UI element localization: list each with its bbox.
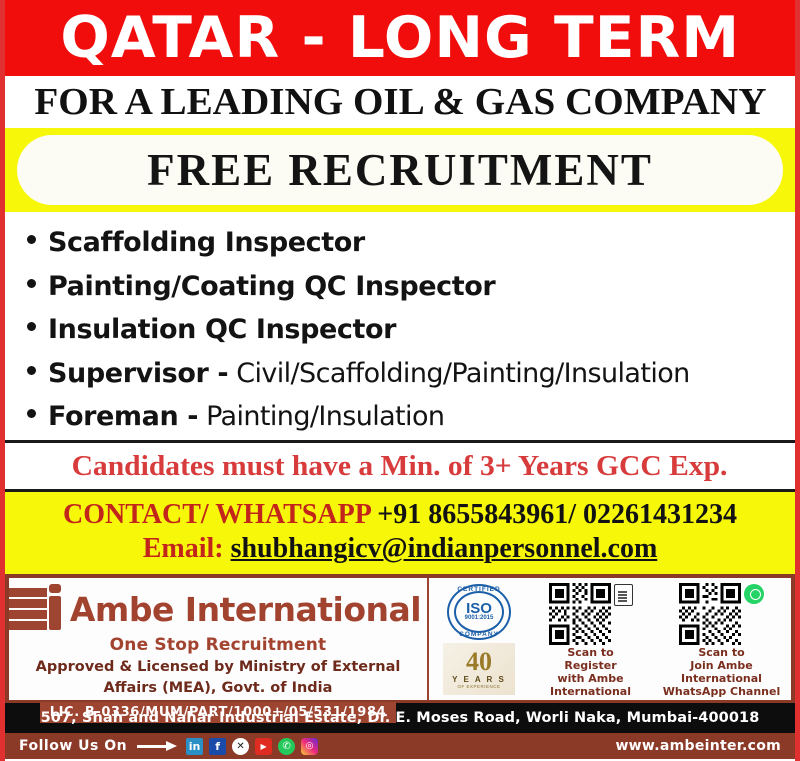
- qr-register-row: [549, 583, 633, 645]
- job-title: Supervisor -: [48, 358, 228, 389]
- linkedin-icon[interactable]: in: [186, 738, 203, 755]
- clipboard-icon: [614, 584, 633, 606]
- whatsapp-icon: [744, 584, 764, 604]
- iso-standard: 9001:2015: [447, 615, 511, 621]
- bullet-icon: [27, 322, 36, 331]
- email-address[interactable]: shubhangicv@indianpersonnel.com: [231, 533, 658, 564]
- job-list: Scaffolding Inspector Painting/Coating Q…: [5, 212, 795, 440]
- contact-line: CONTACT/ WHATSAPP +91 8655843961/ 022614…: [5, 498, 795, 532]
- contact-band: CONTACT/ WHATSAPP +91 8655843961/ 022614…: [5, 492, 795, 574]
- free-recruitment-band: FREE RECRUITMENT: [5, 128, 795, 212]
- page-title: QATAR - LONG TERM: [60, 10, 740, 67]
- youtube-icon[interactable]: ▶: [255, 738, 272, 755]
- company-logo: Ambe International: [3, 584, 427, 634]
- contact-numbers[interactable]: +91 8655843961/ 02261431234: [377, 499, 737, 530]
- qr-register-caption: Scan to Register with Ambe International: [550, 647, 631, 699]
- bullet-icon: [27, 235, 36, 244]
- certifications-and-qr: CERTIFIED ISO 9001:2015 COMPANY 40 Y E A…: [429, 578, 791, 700]
- facebook-icon[interactable]: f: [209, 738, 226, 755]
- qr-whatsapp-block[interactable]: Scan to Join Ambe International WhatsApp…: [656, 579, 787, 699]
- qr-caption-line: International: [550, 686, 631, 699]
- qr-code-register-icon[interactable]: [549, 583, 611, 645]
- experience-requirement-strip: Candidates must have a Min. of 3+ Years …: [5, 440, 795, 492]
- free-recruitment-label: FREE RECRUITMENT: [147, 148, 653, 193]
- bullet-icon: [27, 366, 36, 375]
- job-title: Foreman -: [48, 401, 198, 432]
- ambe-logo-icon: [9, 584, 61, 634]
- company-block: Ambe International One Stop Recruitment …: [9, 578, 429, 700]
- list-item: Foreman - Painting/Insulation: [5, 398, 795, 435]
- qr-caption-line: WhatsApp Channel: [663, 686, 781, 699]
- social-bar: Follow Us On in f ✕ ▶ ✆ ◎ www.ambeinter.…: [5, 733, 795, 759]
- footer-panel: Ambe International One Stop Recruitment …: [5, 574, 795, 703]
- qr-whatsapp-row: [679, 583, 764, 645]
- qr-code-whatsapp-icon[interactable]: [679, 583, 741, 645]
- qr-whatsapp-caption: Scan to Join Ambe International WhatsApp…: [663, 647, 781, 699]
- company-tagline: One Stop Recruitment: [9, 635, 427, 655]
- years-number: 40: [466, 649, 492, 675]
- x-twitter-icon[interactable]: ✕: [232, 738, 249, 755]
- email-label: Email:: [143, 533, 224, 564]
- list-item: Supervisor - Civil/Scaffolding/Painting/…: [5, 355, 795, 392]
- free-recruitment-pill: FREE RECRUITMENT: [17, 135, 783, 205]
- approval-line-1: Approved & Licensed by Ministry of Exter…: [9, 658, 427, 676]
- iso-bottom-text: COMPANY: [447, 631, 511, 638]
- approval-line-2: Affairs (MEA), Govt. of India: [9, 679, 427, 697]
- badge-column: CERTIFIED ISO 9001:2015 COMPANY 40 Y E A…: [433, 584, 525, 695]
- email-line: Email: shubhangicv@indianpersonnel.com: [5, 532, 795, 566]
- contact-label: CONTACT/ WHATSAPP: [63, 499, 370, 530]
- header-subtitle-band: FOR A LEADING OIL & GAS COMPANY: [5, 76, 795, 128]
- header-red-band: QATAR - LONG TERM: [5, 0, 795, 76]
- list-item: Insulation QC Inspector: [5, 311, 795, 348]
- iso-label: ISO: [447, 601, 511, 616]
- job-detail: Painting/Insulation: [198, 401, 444, 432]
- page-subtitle: FOR A LEADING OIL & GAS COMPANY: [34, 83, 766, 121]
- follow-us-label: Follow Us On: [19, 738, 127, 754]
- website-link[interactable]: www.ambeinter.com: [615, 738, 781, 754]
- address-text: 507, Shah and Nahar Industrial Estate, D…: [41, 710, 760, 726]
- job-title: Scaffolding Inspector: [48, 227, 365, 258]
- iso-top-text: CERTIFIED: [447, 586, 511, 593]
- job-title: Painting/Coating QC Inspector: [48, 271, 495, 302]
- requirement-text: Candidates must have a Min. of 3+ Years …: [72, 450, 728, 483]
- iso-certified-icon: CERTIFIED ISO 9001:2015 COMPANY: [447, 584, 511, 640]
- job-detail: Civil/Scaffolding/Painting/Insulation: [228, 358, 689, 389]
- whatsapp-icon[interactable]: ✆: [278, 738, 295, 755]
- job-title: Insulation QC Inspector: [48, 314, 396, 345]
- years-badge-icon: 40 Y E A R S OF EXPERIENCE: [443, 643, 515, 695]
- recruitment-poster: QATAR - LONG TERM FOR A LEADING OIL & GA…: [0, 0, 800, 761]
- list-item: Scaffolding Inspector: [5, 224, 795, 261]
- qr-register-block[interactable]: Scan to Register with Ambe International: [525, 579, 656, 699]
- bullet-icon: [27, 409, 36, 418]
- bullet-icon: [27, 279, 36, 288]
- list-item: Painting/Coating QC Inspector: [5, 268, 795, 305]
- company-name: Ambe International: [70, 593, 421, 626]
- instagram-icon[interactable]: ◎: [301, 738, 318, 755]
- footer-inner: Ambe International One Stop Recruitment …: [9, 578, 791, 700]
- years-subtext: OF EXPERIENCE: [457, 684, 500, 689]
- arrow-right-icon: [137, 741, 177, 751]
- years-label: Y E A R S: [452, 675, 506, 684]
- social-left: Follow Us On in f ✕ ▶ ✆ ◎: [19, 738, 318, 755]
